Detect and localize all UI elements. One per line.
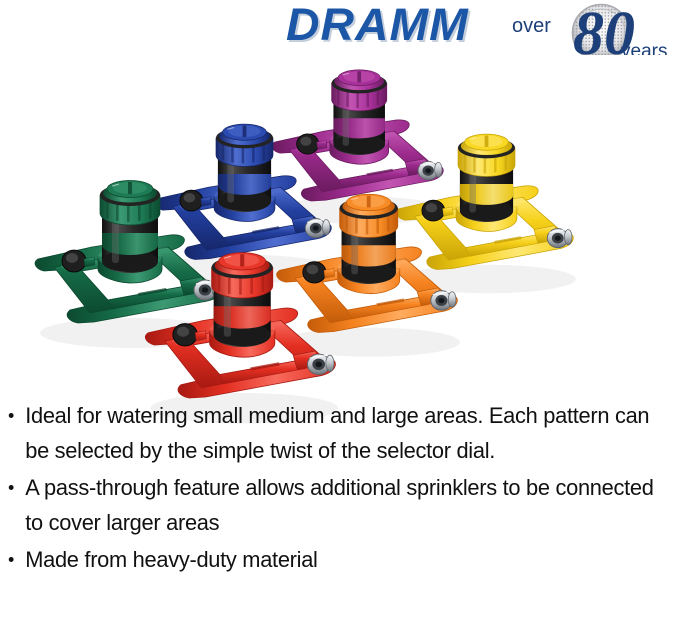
feature-item: A pass-through feature allows additional… [0,470,659,540]
bullet-icon [9,413,14,418]
bullet-icon [9,557,14,562]
feature-text: A pass-through feature allows additional… [25,475,653,535]
feature-item: Made from heavy-duty material [0,542,659,577]
product-image-page: DRAMM [0,0,679,628]
dramm-logo-wordmark: DRAMM [286,2,469,48]
bullet-icon [9,485,14,490]
product-photo [0,55,679,395]
turret-assembly [210,253,275,358]
badge-over-text: over [512,15,551,37]
red-sprinkler-graphic [130,245,365,439]
feature-text: Made from heavy-duty material [25,547,317,572]
red-sprinkler [130,245,365,439]
